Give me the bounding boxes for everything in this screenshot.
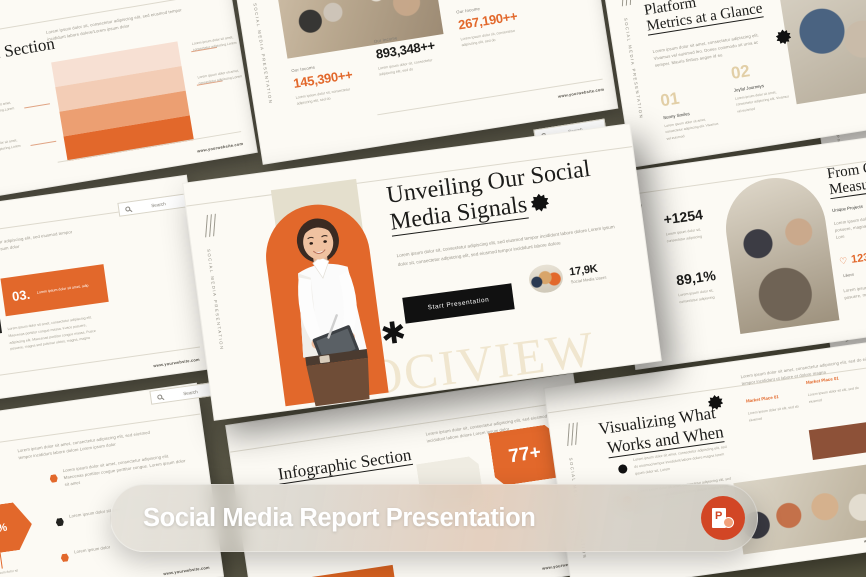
slide-title: Infographic Section	[277, 445, 413, 484]
metric-item-1: 01 Sunny Smiles Lorem ipsum dolor sit am…	[659, 82, 724, 142]
heart-icon: ♡	[839, 255, 849, 267]
title-ribbon: Your Title Here	[302, 565, 397, 577]
step-number: 03.	[11, 286, 31, 303]
leader-line	[24, 103, 50, 108]
market-body-2: Lorem ipsum dolor sit elit, sed do eiusm…	[807, 385, 862, 406]
pyramid-annotation-4: Lorem ipsum dolor sit amet, consectetur …	[0, 136, 25, 156]
likes-value: 123+	[850, 250, 866, 265]
slide-vertical-label: Social Media Presentation	[252, 3, 273, 105]
slide-card-numbered-steps[interactable]: tion Lorem ipsum dolor sit, consectetur …	[0, 175, 214, 414]
slide-footer-site: www.yourwebsite.com	[558, 87, 605, 99]
metric-item-2: 02 Joyful Journeys Lorem ipsum dolor sit…	[730, 55, 795, 115]
step-card-02[interactable]: 02. Lorem ipsum dolor sit amet, adip	[0, 295, 2, 347]
asterisk-icon: ✱	[380, 324, 407, 345]
pyramid-annotation-3: Lorem ipsum dolor sit amet, consectetur …	[0, 99, 19, 119]
slide-footer-site: www.yourwebsite.com	[197, 141, 244, 154]
stat-block-projects: +1254 Lorem ipsum dolor sit, consectetur…	[663, 206, 707, 245]
likes-body: Lorem ipsum dolor sit am massa. Fusce po…	[843, 274, 866, 302]
market-label-1: Market Place 01	[746, 394, 779, 404]
banner-title: Social Media Report Presentation	[143, 504, 535, 533]
market-body-1: Lorem ipsum dolor sit elit, sed do eiusm…	[747, 403, 802, 424]
powerpoint-pie	[723, 517, 734, 528]
pyramid-annotation-1: Lorem ipsum dolor sit amet, consectetur …	[192, 33, 241, 53]
step-card-03[interactable]: 03. Lorem ipsum dolor sit amet, adip	[0, 264, 108, 316]
screenshot-stage: Social Media Presentation Social Media P…	[0, 0, 866, 577]
subhead: Unique Projects	[832, 204, 863, 213]
bullet-dot-black	[618, 464, 628, 474]
leader-line	[0, 553, 3, 569]
step-caption: Lorem ipsum dolor sit amet, adip	[36, 282, 88, 295]
bullet-marker	[60, 553, 69, 562]
slide-footer-site: www.yourwebsite.com	[153, 357, 200, 368]
stat-block-3: Our Income 267,190++ Lorem ipsum dolor s…	[456, 0, 523, 49]
hexagon-value: 65%	[0, 522, 8, 537]
slide-footer-site: www.yourwebsite.com	[163, 565, 210, 576]
users-thumbnail	[527, 263, 564, 295]
slide-intro: Lorem ipsum dolor sit, consectetur adipi…	[46, 5, 194, 44]
stat-caption: Lorem ipsum dolor sit, consectetur adipi…	[678, 287, 720, 306]
pyramid-annotation-2: Lorem ipsum dolor sit amet, consectetur …	[197, 67, 246, 87]
search-icon	[125, 206, 131, 212]
accent-block	[809, 418, 866, 460]
slide-rail: Social Media Presentation	[197, 209, 249, 407]
stat-caption: Lorem ipsum dolor sit, consectetur adipi…	[665, 226, 707, 245]
search-placeholder: Search	[136, 199, 181, 210]
powerpoint-glyph	[712, 507, 734, 529]
conference-photo	[720, 172, 840, 334]
starburst-icon	[530, 193, 550, 213]
start-presentation-button[interactable]: Start Presentation	[402, 283, 514, 323]
bullet-marker	[55, 518, 64, 527]
hexagon-65: 65%	[0, 500, 35, 558]
presenter-photo	[261, 207, 397, 412]
step-paragraph-2: Lorem ipsum dolor sit amet, consectetur …	[7, 313, 104, 353]
hexagon-legend-2: Lorem ipsum dolor sit amet	[0, 568, 22, 577]
hero-stat: 17,9K Social Media Users	[527, 257, 607, 295]
search-icon	[157, 394, 163, 400]
rail-bars-icon	[204, 214, 221, 238]
bullet-marker	[49, 474, 58, 483]
search-placeholder: Search	[168, 387, 213, 398]
slide-intro: Lorem ipsum dolor sit amet, consectetur …	[740, 352, 866, 387]
slide-intro: Lorem ipsum dolor sit, consectetur adipi…	[0, 226, 88, 261]
slide-card-hero[interactable]: Social Media Presentation SOCIVIEW	[182, 123, 662, 421]
leader-line	[30, 141, 56, 146]
stat-block-percent: 89,1% Lorem ipsum dolor sit, consectetur…	[675, 267, 719, 306]
bullet-text-1: Lorem ipsum dolor sit amet, consectetur …	[62, 450, 190, 489]
rail-bars-icon	[620, 0, 637, 6]
title-banner: Social Media Report Presentation	[110, 484, 758, 552]
stat-block-2: Our Income 893,348++ Lorem ipsum dolor s…	[373, 29, 440, 78]
stat-block-1: Our Income 145,390++ Lorem ipsum dolor s…	[291, 59, 358, 108]
likes-row: ♡ 123+	[838, 250, 866, 267]
hero-title: Unveiling Our Social Media Signals	[385, 151, 636, 237]
likes-caption: Likers	[843, 272, 854, 278]
slide-vertical-label: Social Media Presentation	[206, 249, 225, 351]
stat-value: +1254	[663, 206, 705, 227]
slide-vertical-label: Social Media Presentation	[623, 18, 644, 120]
rail-bars-icon	[566, 422, 583, 446]
powerpoint-icon	[701, 496, 745, 540]
stat-value: 89,1%	[675, 267, 717, 288]
